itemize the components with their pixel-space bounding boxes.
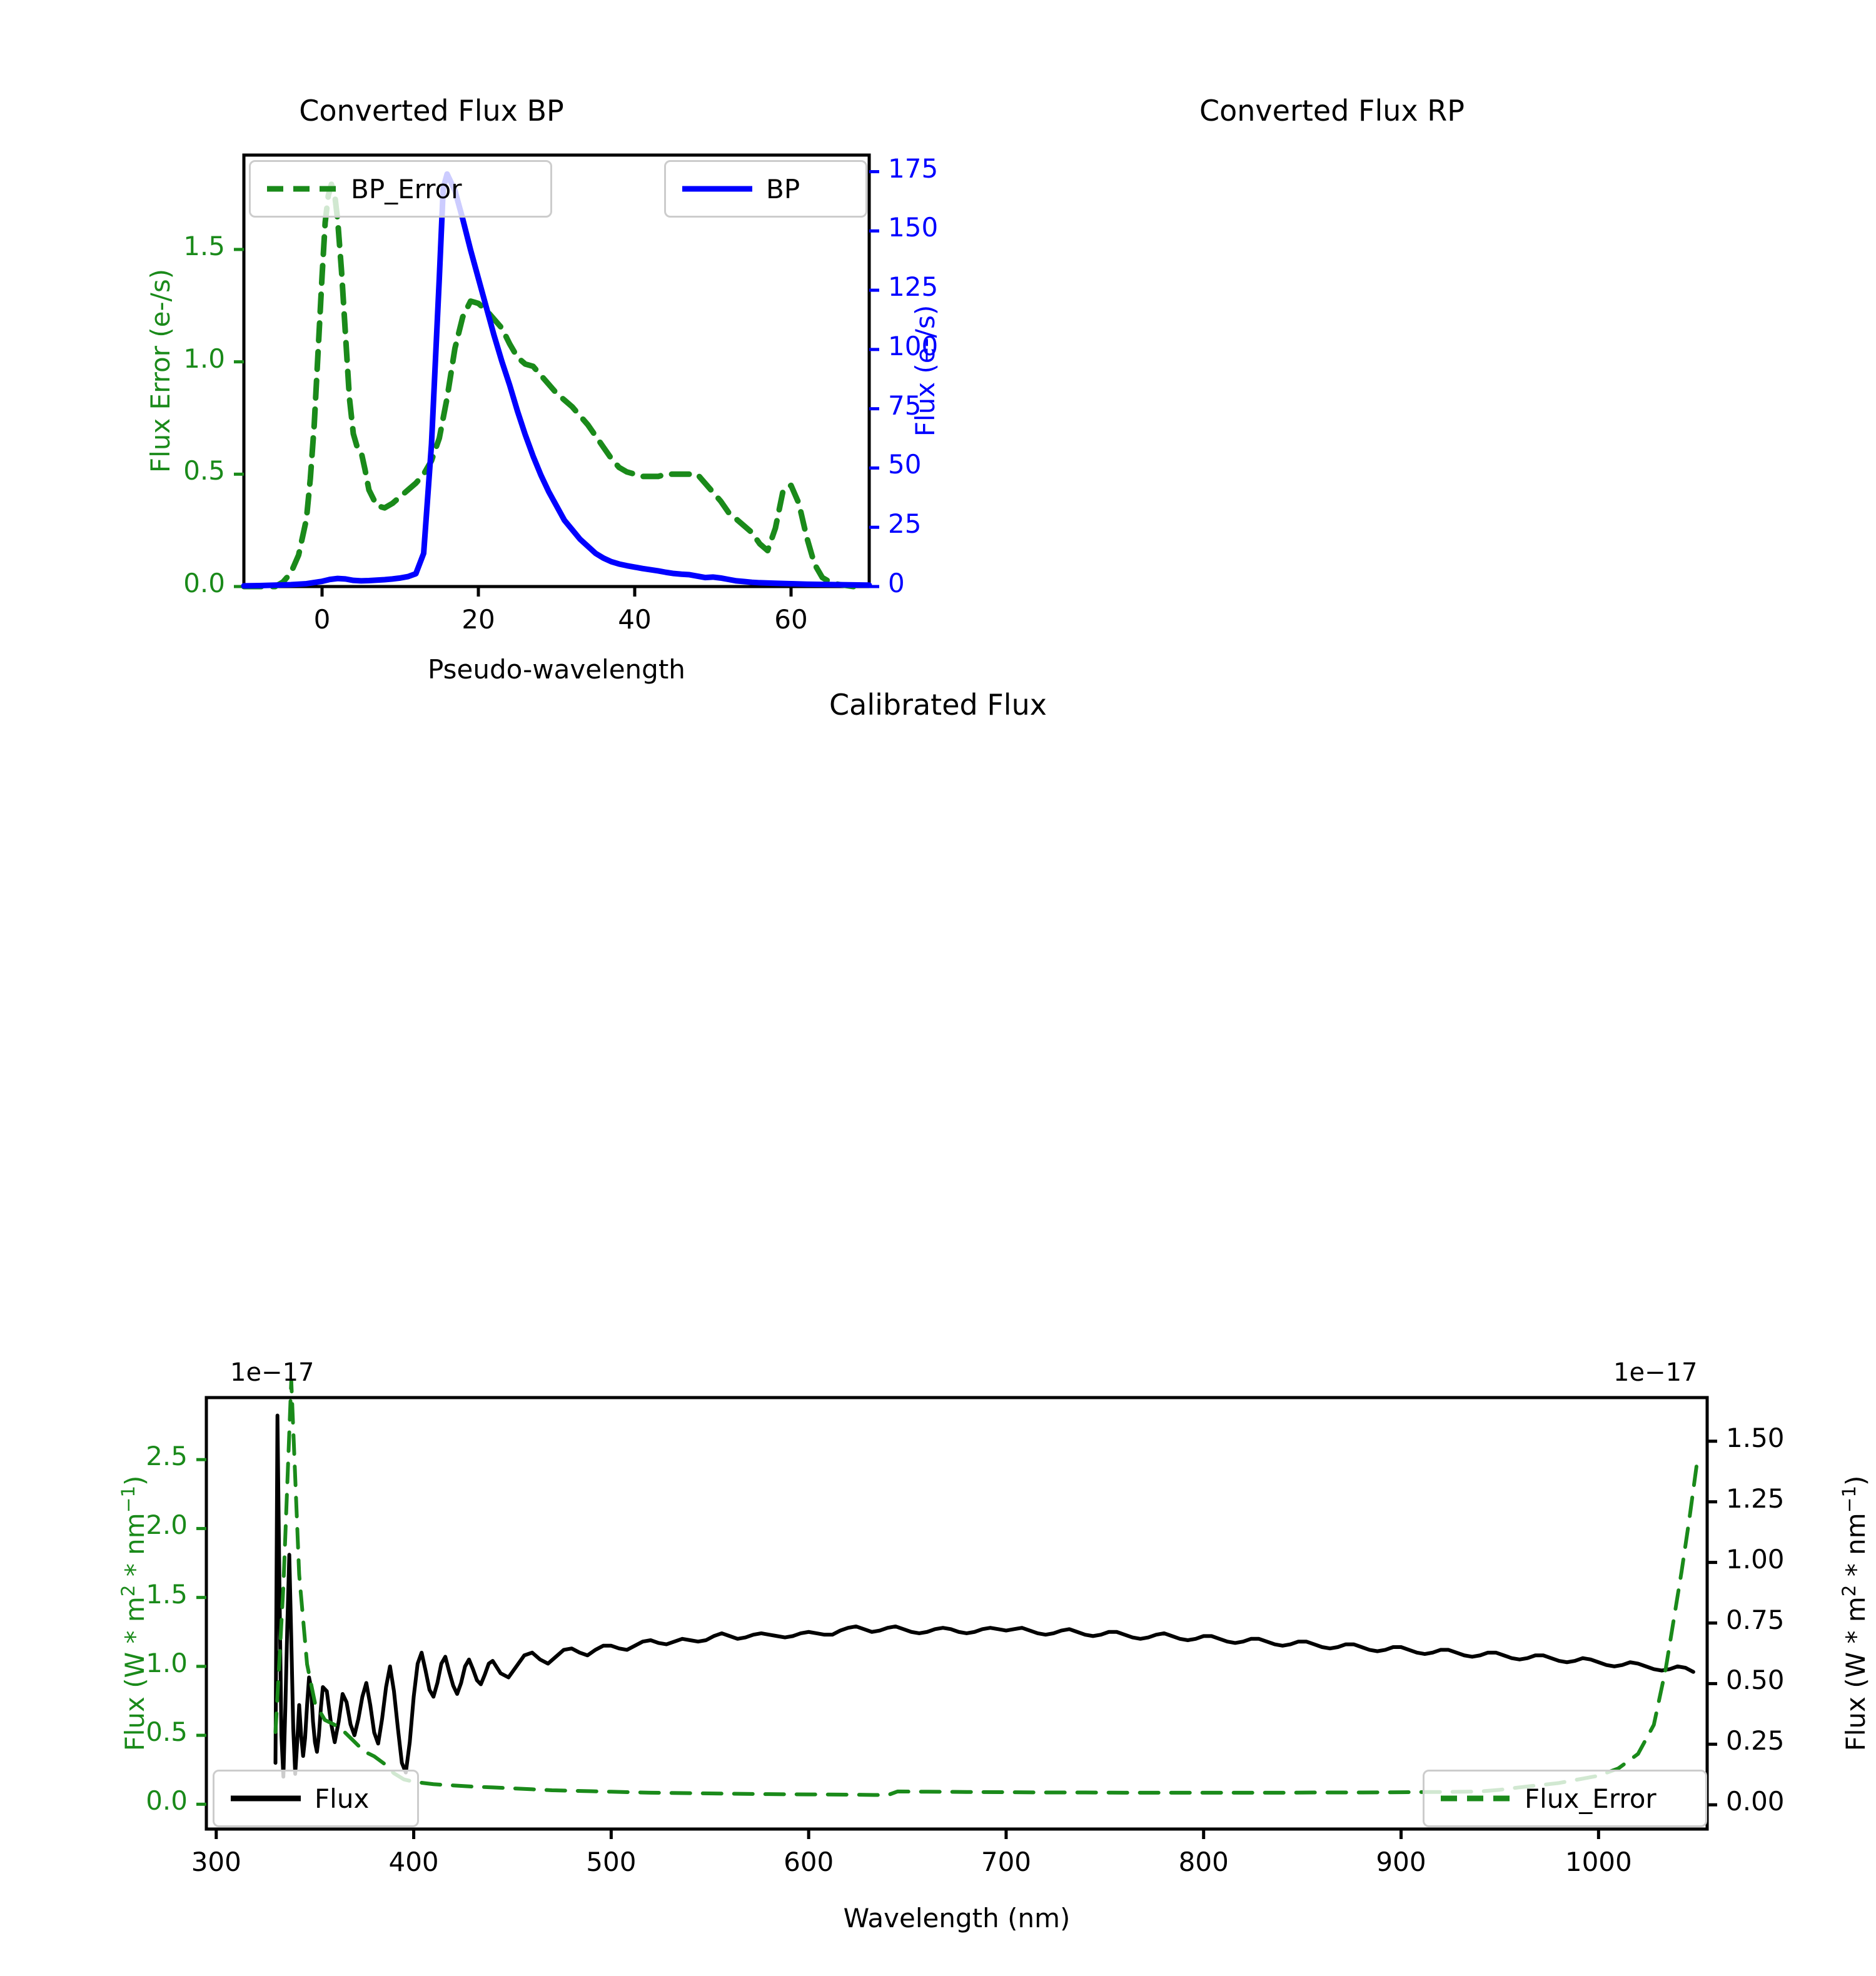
bp-ytick-label-left: 0.5 bbox=[38, 455, 225, 486]
bp-series-bp bbox=[244, 174, 869, 586]
cal-xtick-label: 300 bbox=[129, 1847, 304, 1877]
bp-legend-error[interactable]: BP_Error bbox=[249, 160, 552, 218]
cal-ylabel-right: Flux (W * m2 * nm−1) bbox=[1838, 1476, 1871, 1752]
bp-series-bp-error bbox=[244, 184, 854, 587]
cal-xtick-label: 900 bbox=[1314, 1847, 1489, 1877]
panel-calibrated-flux: Calibrated Flux 300400500600700800900100… bbox=[0, 663, 1876, 1313]
panel-cal-title: Calibrated Flux bbox=[694, 688, 1182, 722]
cal-xtick-label: 400 bbox=[326, 1847, 502, 1877]
cal-ytick-label-left: 2.5 bbox=[0, 1441, 188, 1471]
cal-ytick-label-left: 2.0 bbox=[0, 1510, 188, 1540]
cal-series-flux bbox=[276, 1416, 1693, 1777]
cal-legend-flux-label: Flux bbox=[315, 1783, 369, 1814]
cal-ytick-label-left: 1.0 bbox=[0, 1648, 188, 1678]
rp-ytick-label-left: 0.2 bbox=[1829, 462, 1876, 493]
cal-xtick-label: 800 bbox=[1116, 1847, 1291, 1877]
panel-converted-flux-bp: Converted Flux BP 02040600.00.51.01.5025… bbox=[0, 0, 938, 663]
rp-ytick-label-left: 0.8 bbox=[1829, 144, 1876, 175]
cal-ytick-label-left: 0.5 bbox=[0, 1716, 188, 1747]
bp-ylabel-left: Flux Error (e-/s) bbox=[145, 269, 176, 473]
rp-ytick-label-left: 0.6 bbox=[1829, 250, 1876, 281]
panel-converted-flux-rp: Converted Flux RP 02040600.00.20.40.60.8… bbox=[938, 0, 1876, 663]
bp-xtick-label: 20 bbox=[391, 604, 566, 635]
bp-xtick-label: 40 bbox=[547, 604, 722, 635]
bp-legend-error-swatch bbox=[265, 179, 340, 198]
bp-xtick-label: 60 bbox=[703, 604, 879, 635]
cal-ytick-label-right: 0.00 bbox=[1726, 1786, 1876, 1817]
bp-ytick-label-left: 1.0 bbox=[38, 343, 225, 374]
cal-legend-flux[interactable]: Flux bbox=[213, 1770, 419, 1827]
bp-ylabel-right: Flux (e-/s) bbox=[910, 305, 941, 436]
cal-ytick-label-right: 1.50 bbox=[1726, 1423, 1876, 1453]
cal-xtick-label: 600 bbox=[721, 1847, 896, 1877]
cal-xtick-label: 500 bbox=[523, 1847, 698, 1877]
bp-legend-flux[interactable]: BP bbox=[664, 160, 867, 218]
cal-legend-error-swatch bbox=[1438, 1789, 1513, 1808]
bp-ytick-label-left: 1.5 bbox=[38, 231, 225, 261]
bp-xtick-label: 0 bbox=[234, 604, 410, 635]
bp-legend-error-label: BP_Error bbox=[351, 174, 462, 204]
cal-series-flux-error bbox=[276, 1381, 1698, 1795]
cal-legend-error-label: Flux_Error bbox=[1525, 1783, 1657, 1814]
bp-legend-flux-swatch bbox=[680, 179, 755, 198]
cal-xtick-label: 700 bbox=[919, 1847, 1094, 1877]
cal-legend-flux-swatch bbox=[228, 1789, 303, 1808]
panel-rp-title: Converted Flux RP bbox=[1138, 94, 1526, 128]
cal-xtick-label: 1000 bbox=[1511, 1847, 1686, 1877]
cal-legend-error[interactable]: Flux_Error bbox=[1423, 1770, 1707, 1827]
figure-canvas: Converted Flux BP 02040600.00.51.01.5025… bbox=[0, 0, 1876, 1313]
cal-ytick-label-left: 0.0 bbox=[0, 1785, 188, 1816]
bp-legend-flux-label: BP bbox=[766, 174, 800, 204]
cal-xlabel: Wavelength (nm) bbox=[206, 1903, 1707, 1933]
cal-ylabel-left: Flux (W * m2 * nm−1) bbox=[118, 1476, 150, 1752]
cal-offset-right: 1e−17 bbox=[1613, 1358, 1697, 1387]
panel-bp-title: Converted Flux BP bbox=[238, 94, 625, 128]
cal-ytick-label-left: 1.5 bbox=[0, 1579, 188, 1610]
bp-frame bbox=[244, 155, 869, 587]
rp-ytick-label-left: 0.0 bbox=[1829, 568, 1876, 598]
cal-frame bbox=[206, 1398, 1707, 1829]
cal-offset-left: 1e−17 bbox=[230, 1358, 314, 1387]
rp-ytick-label-left: 0.4 bbox=[1829, 356, 1876, 386]
bp-ytick-label-left: 0.0 bbox=[38, 568, 225, 598]
